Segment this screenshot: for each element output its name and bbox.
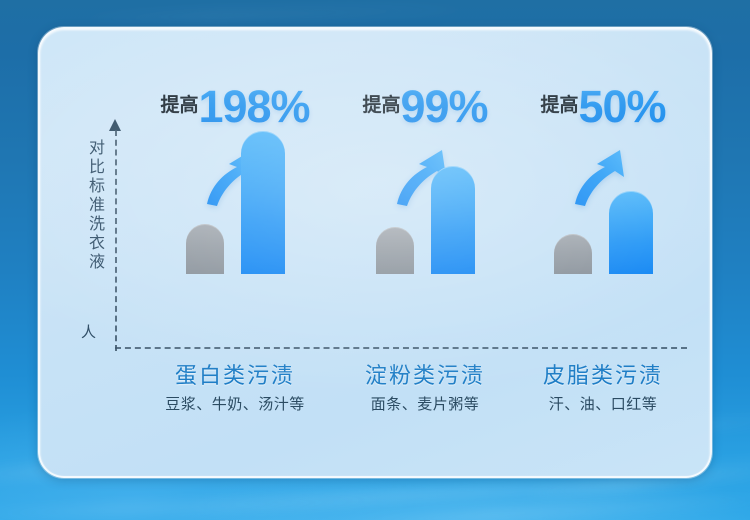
category-title: 蛋白类污渍 xyxy=(140,362,330,390)
headline-prefix: 提高 xyxy=(160,95,198,116)
info-card: 对比标准洗衣液 人 提高198% xyxy=(38,27,712,478)
y-axis-line xyxy=(115,130,117,351)
headline-prefix: 提高 xyxy=(540,95,578,116)
bar-reference xyxy=(376,227,414,274)
chart-group-starch: 提高99% xyxy=(330,29,520,476)
category-label-starch: 淀粉类污渍 面条、麦片粥等 xyxy=(330,362,520,414)
category-subtitle: 面条、麦片粥等 xyxy=(330,395,520,415)
chart-group-protein: 提高198% xyxy=(140,29,330,476)
poster-canvas: 对比标准洗衣液 人 提高198% xyxy=(0,0,750,520)
bar-chart: 对比标准洗衣液 人 提高198% xyxy=(40,29,710,476)
category-title: 皮脂类污渍 xyxy=(508,362,698,390)
category-label-sebum: 皮脂类污渍 汗、油、口红等 xyxy=(508,362,698,414)
category-subtitle: 汗、油、口红等 xyxy=(508,395,698,415)
bar-pair-protein xyxy=(140,124,330,274)
water-streak xyxy=(330,491,750,520)
bar-reference xyxy=(554,234,592,274)
water-streak xyxy=(70,4,490,25)
chart-group-sebum: 提高50% xyxy=(508,29,698,476)
bar-reference xyxy=(186,224,224,274)
y-axis-label: 对比标准洗衣液 xyxy=(76,139,102,272)
water-streak xyxy=(0,495,400,518)
category-label-protein: 蛋白类污渍 豆浆、牛奶、汤汁等 xyxy=(140,362,330,414)
headline-prefix: 提高 xyxy=(362,95,400,116)
category-subtitle: 豆浆、牛奶、汤汁等 xyxy=(140,395,330,415)
y-axis-tick-label: 人 xyxy=(81,321,96,342)
bar-value xyxy=(609,191,653,274)
bar-value xyxy=(241,131,285,274)
category-title: 淀粉类污渍 xyxy=(330,362,520,390)
bar-pair-sebum xyxy=(508,124,698,274)
bar-value xyxy=(431,166,475,274)
bar-pair-starch xyxy=(330,124,520,274)
